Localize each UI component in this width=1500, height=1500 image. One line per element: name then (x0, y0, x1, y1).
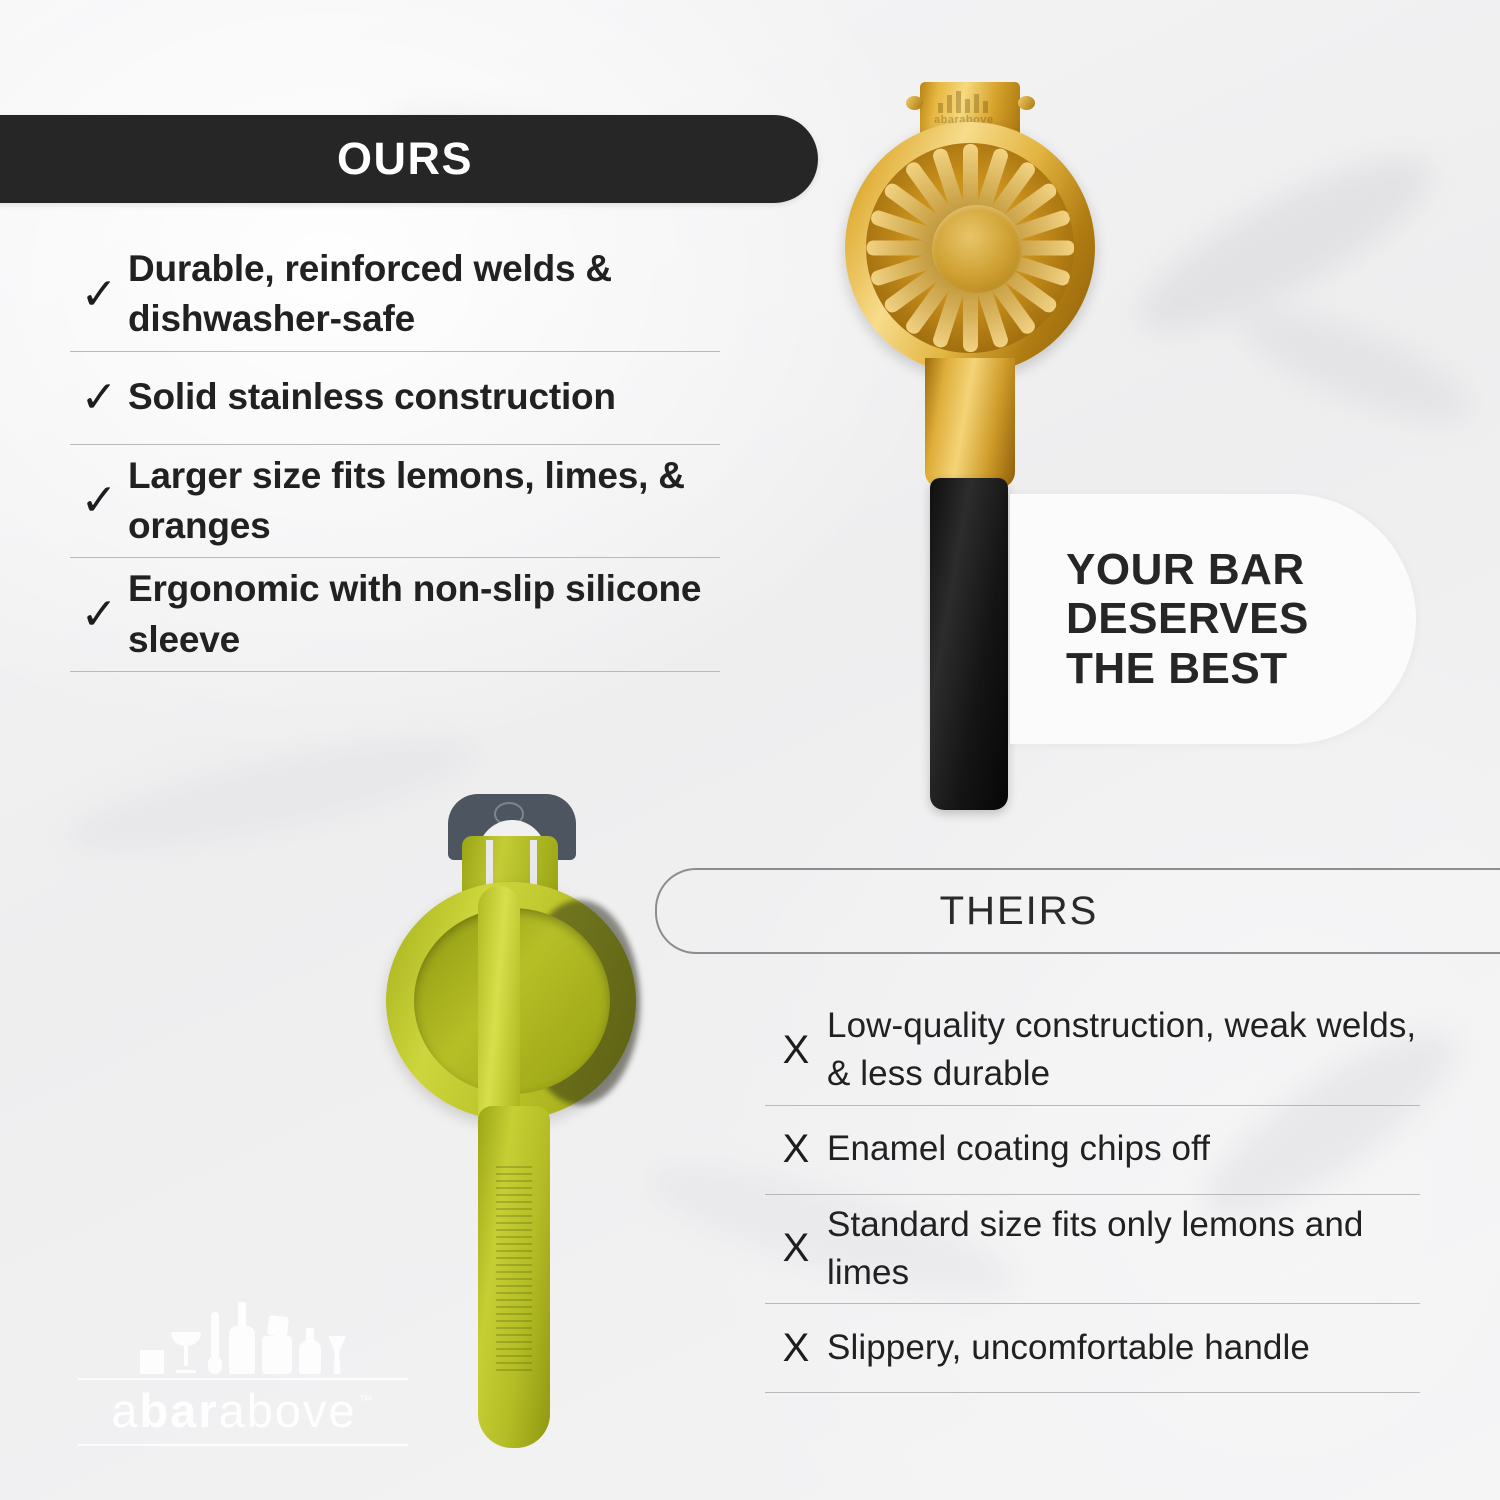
theirs-header-label: THEIRS (940, 889, 1099, 934)
press-bowl (866, 143, 1074, 353)
x-icon: X (765, 1226, 827, 1271)
barware-silhouettes (78, 1296, 408, 1374)
logo-rule-bottom (78, 1444, 408, 1446)
logo-word-above: above (219, 1383, 357, 1438)
badge-line-2: DESERVES (1066, 594, 1416, 643)
list-item-label: Larger size fits lemons, limes, & orange… (128, 451, 720, 552)
list-item: ✓ Ergonomic with non-slip silicone sleev… (70, 558, 720, 671)
badge-line-3: THE BEST (1066, 644, 1416, 693)
logo-word-a: a (111, 1383, 139, 1438)
trademark-icon: ™ (359, 1392, 375, 1408)
engraved-brand-mark: abarabove (932, 92, 1010, 126)
green-citrus-press-image (370, 790, 660, 1450)
list-item-label: Ergonomic with non-slip silicone sleeve (128, 564, 720, 665)
bar-spoon-icon (208, 1312, 222, 1374)
list-item-label: Slippery, uncomfortable handle (827, 1324, 1310, 1372)
x-icon: X (765, 1028, 827, 1073)
list-item-label: Solid stainless construction (128, 372, 616, 422)
list-item: X Standard size fits only lemons and lim… (765, 1195, 1420, 1304)
check-icon: ✓ (70, 589, 128, 640)
brand-logo: a bar above ™ (78, 1296, 408, 1446)
list-item-label: Standard size fits only lemons and limes (827, 1201, 1420, 1298)
check-icon: ✓ (70, 475, 128, 526)
press-pivot-pin-right (1018, 96, 1035, 110)
badge-line-1: YOUR BAR (1066, 545, 1416, 594)
check-icon: ✓ (70, 269, 128, 320)
competitor-handle-ribs (496, 1166, 532, 1376)
x-icon: X (765, 1326, 827, 1371)
list-item-label: Enamel coating chips off (827, 1125, 1210, 1173)
list-item: ✓ Solid stainless construction (70, 352, 720, 444)
check-icon: ✓ (70, 372, 128, 423)
x-icon: X (765, 1127, 827, 1172)
coupe-glass-icon (171, 1332, 201, 1374)
logo-word-bar: bar (139, 1383, 218, 1438)
competitor-handle (478, 1106, 550, 1448)
list-item: ✓ Larger size fits lemons, limes, & oran… (70, 445, 720, 558)
carafe-icon (328, 1336, 346, 1374)
press-neck (925, 358, 1015, 488)
list-divider (765, 1392, 1420, 1393)
value-prop-badge: YOUR BAR DESERVES THE BEST (1010, 494, 1416, 744)
list-item-label: Durable, reinforced welds & dishwasher-s… (128, 244, 720, 345)
press-center-disc (932, 205, 1022, 293)
list-item-label: Low-quality construction, weak welds, & … (827, 1002, 1420, 1099)
list-divider (70, 671, 720, 672)
bottle-icon (229, 1302, 255, 1374)
theirs-header-pill: THEIRS (655, 868, 1500, 954)
logo-wordmark: a bar above ™ (78, 1380, 408, 1440)
list-item: X Slippery, uncomfortable handle (765, 1304, 1420, 1392)
ours-header-label: OURS (337, 133, 473, 185)
shaker-icon (262, 1316, 292, 1374)
ours-feature-list: ✓ Durable, reinforced welds & dishwasher… (70, 238, 720, 672)
theirs-drawback-list: X Low-quality construction, weak welds, … (765, 996, 1420, 1393)
press-pivot-pin-left (906, 96, 923, 110)
tumbler-icon (140, 1350, 164, 1374)
flask-bottle-icon (299, 1328, 321, 1374)
list-item: X Enamel coating chips off (765, 1106, 1420, 1194)
list-item: ✓ Durable, reinforced welds & dishwasher… (70, 238, 720, 351)
competitor-lever-arm (478, 886, 520, 1136)
list-item: X Low-quality construction, weak welds, … (765, 996, 1420, 1105)
press-silicone-grip (930, 478, 1008, 810)
ours-header-pill: OURS (0, 115, 818, 203)
